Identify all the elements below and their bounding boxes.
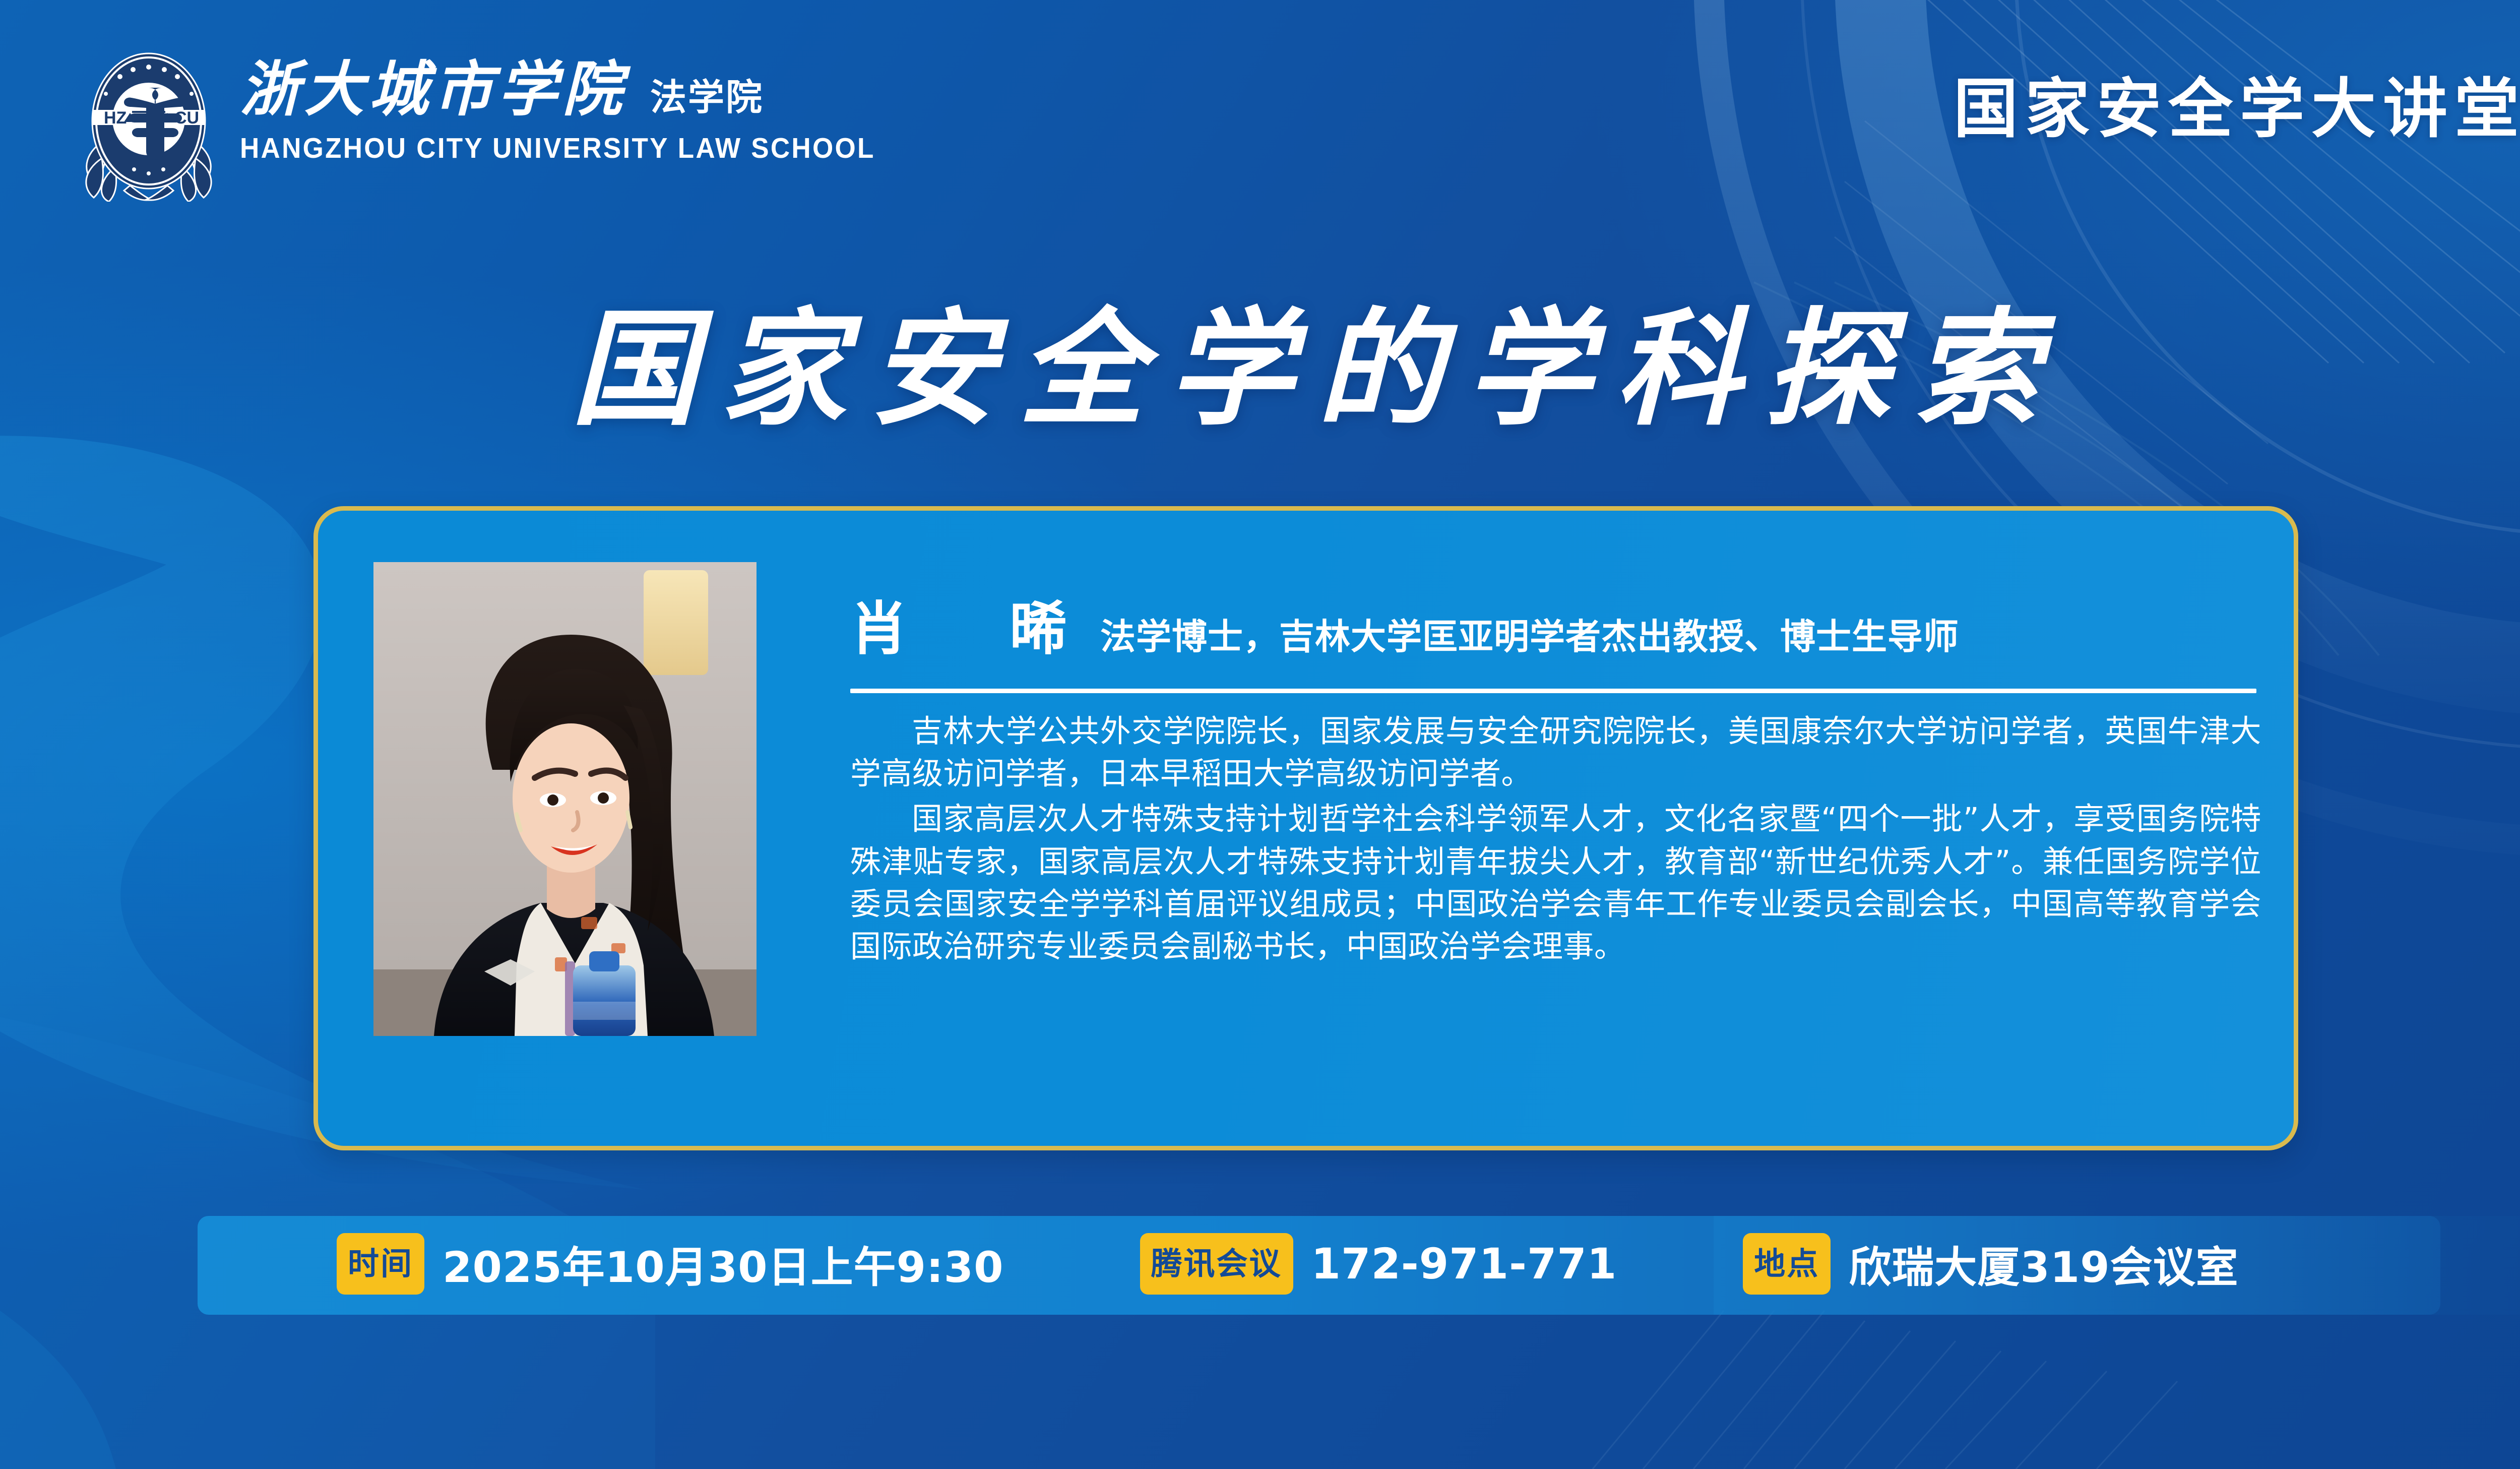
lecture-series-title: 国家安全学大讲堂 — [1954, 56, 2520, 150]
time-value: 2025年10月30日上午9:30 — [443, 1234, 1004, 1295]
speaker-title: 法学博士，吉林大学匡亚明学者杰出教授、博士生导师 — [1100, 608, 1959, 659]
time-badge: 时间 — [337, 1233, 424, 1295]
speaker-card: 肖 晞 法学博士，吉林大学匡亚明学者杰出教授、博士生导师 吉林大学公共外交学院院… — [313, 506, 2298, 1150]
meeting-id-value: 172-971-771 — [1311, 1239, 1617, 1289]
place-badge: 地点 — [1743, 1233, 1831, 1295]
school-name-cn: 浙大城市学院 — [240, 59, 627, 119]
speaker-divider — [850, 689, 2256, 693]
brand-lockup: HZ CU 浙大城市学院 法学院 HANGZHOU CITY UNIVERSIT… — [76, 50, 923, 202]
hzcu-law-school-crest-icon: HZ CU — [76, 50, 222, 202]
meeting-badge: 腾讯会议 — [1140, 1233, 1293, 1295]
speaker-details: 肖 晞 法学博士，吉林大学匡亚明学者杰出教授、博士生导师 吉林大学公共外交学院院… — [850, 551, 2261, 1111]
page-title: 国家安全学的学科探索 — [0, 267, 2520, 450]
crest-initials-left: HZ — [104, 108, 127, 128]
speaker-bio: 吉林大学公共外交学院院长，国家发展与安全研究院院长，美国康奈尔大学访问学者，英国… — [850, 710, 2261, 968]
poster-canvas: HZ CU 浙大城市学院 法学院 HANGZHOU CITY UNIVERSIT… — [0, 0, 2520, 1469]
bio-paragraph: 吉林大学公共外交学院院长，国家发展与安全研究院院长，美国康奈尔大学访问学者，英国… — [850, 710, 2261, 795]
crest-initials-right: CU — [174, 108, 199, 128]
event-info-row: 时间 2025年10月30日上午9:30 腾讯会议 172-971-771 地点… — [0, 1211, 2520, 1317]
brand-text-block: 浙大城市学院 法学院 HANGZHOU CITY UNIVERSITY LAW … — [240, 50, 923, 165]
place-value: 欣瑞大厦319会议室 — [1849, 1234, 2238, 1295]
bio-paragraph: 国家高层次人才特殊支持计划哲学社会科学领军人才，文化名家暨“四个一批”人才，享受… — [850, 798, 2261, 968]
event-time: 时间 2025年10月30日上午9:30 — [337, 1233, 1004, 1295]
poster-header: HZ CU 浙大城市学院 法学院 HANGZHOU CITY UNIVERSIT… — [0, 0, 2520, 202]
event-place: 地点 欣瑞大厦319会议室 — [1743, 1233, 2238, 1295]
event-meeting: 腾讯会议 172-971-771 — [1140, 1233, 1617, 1295]
speaker-photo-frame — [373, 562, 757, 1036]
speaker-name: 肖 晞 — [850, 582, 1089, 665]
school-name-en: HANGZHOU CITY UNIVERSITY LAW SCHOOL — [240, 132, 875, 165]
school-department: 法学院 — [650, 68, 764, 120]
speaker-photo — [373, 562, 757, 1036]
